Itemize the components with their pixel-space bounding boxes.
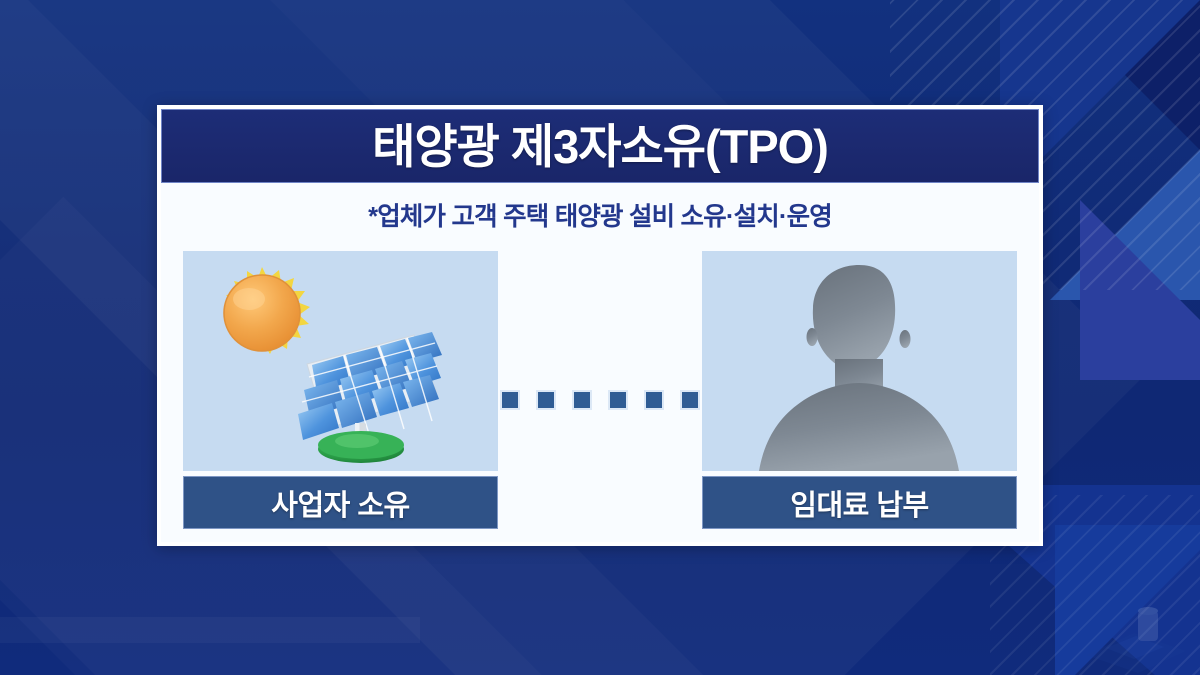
connector-dot (572, 390, 592, 410)
connector-dot (644, 390, 664, 410)
decorative-chip-icon (1076, 593, 1196, 673)
background-triangle-4 (1080, 200, 1200, 380)
card-header: 태양광 제3자소유(TPO) (161, 109, 1039, 183)
person-silhouette-illustration (702, 251, 1017, 471)
solar-panel-sun-illustration (183, 251, 498, 471)
panel-label-customer: 임대료 납부 (702, 476, 1017, 529)
card-subtitle: *업체가 고객 주택 태양광 설비 소유·설치·운영 (161, 196, 1039, 233)
background-bottom-sheen (0, 617, 420, 643)
connector-dot (608, 390, 628, 410)
page-title: 태양광 제3자소유(TPO) (372, 123, 828, 170)
sun-icon (224, 275, 300, 351)
person-icon (759, 265, 959, 471)
broadcast-graphic-stage: 태양광 제3자소유(TPO) *업체가 고객 주택 태양광 설비 소유·설치·운… (0, 0, 1200, 675)
solar-artwork-svg (183, 251, 498, 471)
panel-customer: 임대료 납부 (702, 251, 1017, 551)
info-card: 태양광 제3자소유(TPO) *업체가 고객 주택 태양광 설비 소유·설치·운… (157, 105, 1043, 546)
connector-dot (536, 390, 556, 410)
connector-dot (500, 390, 520, 410)
connector-dot (680, 390, 700, 410)
person-silhouette-svg (702, 251, 1017, 471)
panels-container: 사업자 소유 (161, 251, 1039, 551)
panel-label-business-owner: 사업자 소유 (183, 476, 498, 529)
